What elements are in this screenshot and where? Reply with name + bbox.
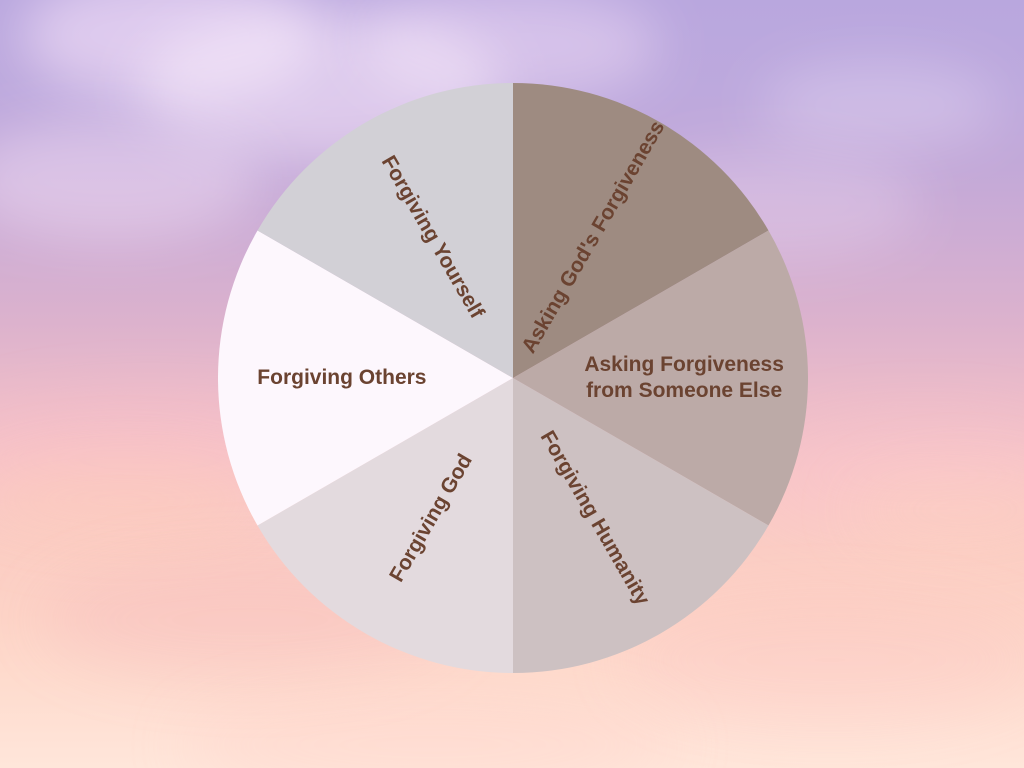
pie-chart-svg: Asking God's ForgivenessAsking Forgivene… (218, 83, 808, 673)
forgiveness-wheel: Asking God's ForgivenessAsking Forgivene… (218, 83, 808, 673)
pie-slice-label-forgiving-others: Forgiving Others (257, 366, 426, 389)
